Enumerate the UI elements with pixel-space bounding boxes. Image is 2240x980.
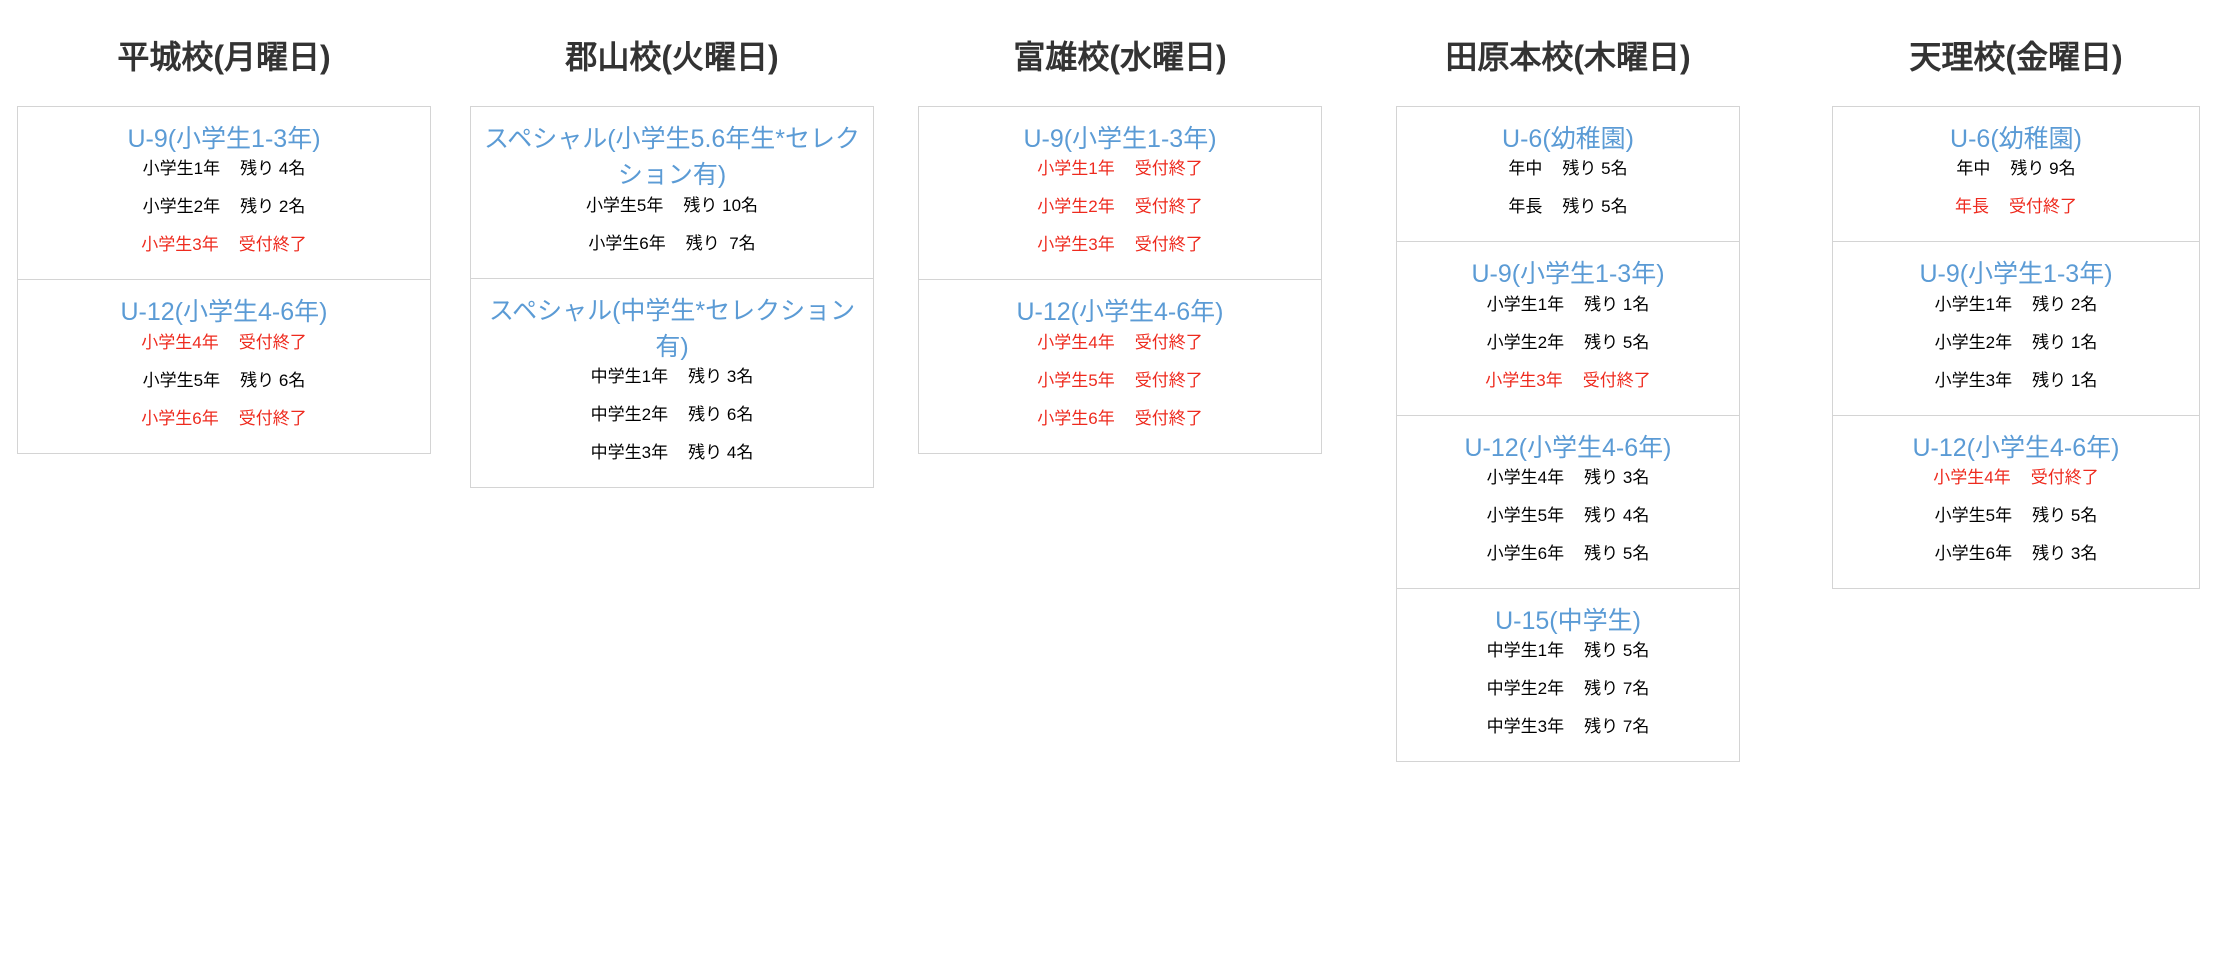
status-badge-closed: 受付終了	[1583, 372, 1651, 389]
capacity-row: 中学生1年残り 5名	[1487, 642, 1650, 659]
class-rows: 年中残り 9名年長受付終了	[1841, 160, 2191, 215]
class-card[interactable]: U-12(小学生4-6年)小学生4年受付終了小学生5年受付終了小学生6年受付終了	[918, 279, 1322, 453]
class-name: U-6(幼稚園)	[1405, 121, 1731, 157]
class-card[interactable]: U-6(幼稚園)年中残り 9名年長受付終了	[1832, 106, 2200, 241]
status-badge-closed: 受付終了	[1135, 334, 1203, 351]
status-badge-remaining: 残り 5名	[1562, 198, 1627, 215]
row-spacer	[1564, 296, 1584, 313]
grade-label: 小学生5年	[1935, 507, 2012, 524]
grade-label: 小学生1年	[1487, 296, 1564, 313]
class-name: U-6(幼稚園)	[1841, 121, 2191, 157]
school-title: 平城校(月曜日)	[17, 0, 431, 106]
status-badge-closed: 受付終了	[239, 410, 307, 427]
grade-label: 小学生6年	[1935, 545, 2012, 562]
grade-label: 中学生3年	[1487, 718, 1564, 735]
grade-label: 小学生5年	[1037, 372, 1114, 389]
row-spacer	[220, 160, 240, 177]
status-badge-closed: 受付終了	[239, 334, 307, 351]
grade-label: 小学生2年	[143, 198, 220, 215]
status-badge-remaining: 残り 2名	[240, 198, 305, 215]
class-name: U-12(小学生4-6年)	[26, 294, 422, 330]
class-name: U-9(小学生1-3年)	[927, 121, 1313, 157]
grade-label: 小学生2年	[1935, 334, 2012, 351]
grade-label: 年長	[1955, 198, 1989, 215]
status-badge-remaining: 残り 7名	[1584, 718, 1649, 735]
capacity-row: 小学生2年受付終了	[1037, 198, 1202, 215]
school-title: 天理校(金曜日)	[1832, 0, 2200, 106]
row-spacer	[1564, 507, 1584, 524]
capacity-row: 小学生6年残り 7名	[588, 235, 755, 252]
status-badge-closed: 受付終了	[1135, 160, 1203, 177]
status-badge-remaining: 残り 1名	[1584, 296, 1649, 313]
capacity-row: 小学生4年受付終了	[1933, 469, 2098, 486]
class-card[interactable]: U-9(小学生1-3年)小学生1年受付終了小学生2年受付終了小学生3年受付終了	[918, 106, 1322, 279]
class-rows: 小学生4年残り 3名小学生5年残り 4名小学生6年残り 5名	[1405, 469, 1731, 562]
grade-label: 小学生1年	[1935, 296, 2012, 313]
class-name: U-12(小学生4-6年)	[927, 294, 1313, 330]
capacity-row: 小学生2年残り 2名	[143, 198, 306, 215]
school-title: 田原本校(木曜日)	[1396, 0, 1740, 106]
row-spacer	[219, 410, 239, 427]
row-spacer	[1564, 469, 1584, 486]
capacity-row: 小学生5年残り 10名	[586, 197, 758, 214]
status-badge-remaining: 残り 10名	[683, 197, 758, 214]
status-badge-closed: 受付終了	[2009, 198, 2077, 215]
status-badge-closed: 受付終了	[1135, 410, 1203, 427]
row-spacer	[219, 236, 239, 253]
status-badge-remaining: 残り 7名	[686, 235, 756, 252]
row-spacer	[1115, 334, 1135, 351]
row-spacer	[2012, 507, 2032, 524]
class-name: U-12(小学生4-6年)	[1405, 430, 1731, 466]
schools-grid: 平城校(月曜日)U-9(小学生1-3年)小学生1年残り 4名小学生2年残り 2名…	[0, 0, 2240, 762]
capacity-row: 小学生3年受付終了	[1485, 372, 1650, 389]
row-spacer	[1542, 160, 1562, 177]
status-badge-remaining: 残り 2名	[2032, 296, 2097, 313]
grade-label: 小学生6年	[1037, 410, 1114, 427]
row-spacer	[1564, 642, 1584, 659]
capacity-row: 小学生5年受付終了	[1037, 372, 1202, 389]
class-rows: 中学生1年残り 5名中学生2年残り 7名中学生3年残り 7名	[1405, 642, 1731, 735]
row-spacer	[1564, 680, 1584, 697]
class-card[interactable]: U-12(小学生4-6年)小学生4年受付終了小学生5年残り 5名小学生6年残り …	[1832, 415, 2200, 589]
row-spacer	[1115, 372, 1135, 389]
row-spacer	[220, 198, 240, 215]
grade-label: 小学生3年	[141, 236, 218, 253]
grade-label: 年長	[1508, 198, 1542, 215]
capacity-row: 小学生5年残り 4名	[1487, 507, 1650, 524]
capacity-row: 中学生1年残り 3名	[591, 368, 754, 385]
row-spacer	[1115, 198, 1135, 215]
class-card[interactable]: スペシャル(中学生*セレクション有)中学生1年残り 3名中学生2年残り 6名中学…	[470, 278, 874, 489]
status-badge-remaining: 残り 5名	[1584, 334, 1649, 351]
capacity-row: 小学生1年残り 1名	[1487, 296, 1650, 313]
capacity-row: 年長残り 5名	[1508, 198, 1627, 215]
row-spacer	[1564, 718, 1584, 735]
grade-label: 小学生4年	[1933, 469, 2010, 486]
class-name: U-12(小学生4-6年)	[1841, 430, 2191, 466]
class-rows: 年中残り 5名年長残り 5名	[1405, 160, 1731, 215]
class-rows: 小学生1年受付終了小学生2年受付終了小学生3年受付終了	[927, 160, 1313, 253]
row-spacer	[668, 406, 688, 423]
status-badge-remaining: 残り 6名	[688, 406, 753, 423]
grade-label: 小学生4年	[141, 334, 218, 351]
school-column: 富雄校(水曜日)U-9(小学生1-3年)小学生1年受付終了小学生2年受付終了小学…	[896, 0, 1344, 454]
status-badge-remaining: 残り 1名	[2032, 334, 2097, 351]
status-badge-remaining: 残り 7名	[1584, 680, 1649, 697]
grade-label: 小学生2年	[1487, 334, 1564, 351]
row-spacer	[663, 197, 683, 214]
status-badge-closed: 受付終了	[1135, 236, 1203, 253]
status-badge-remaining: 残り 6名	[240, 372, 305, 389]
class-card[interactable]: U-9(小学生1-3年)小学生1年残り 4名小学生2年残り 2名小学生3年受付終…	[17, 106, 431, 279]
grade-label: 年中	[1956, 160, 1990, 177]
grade-label: 小学生3年	[1037, 236, 1114, 253]
status-badge-remaining: 残り 4名	[1584, 507, 1649, 524]
grade-label: 中学生3年	[591, 444, 668, 461]
grade-label: 小学生3年	[1485, 372, 1562, 389]
grade-label: 中学生2年	[1487, 680, 1564, 697]
row-spacer	[1989, 198, 2009, 215]
capacity-row: 小学生6年受付終了	[1037, 410, 1202, 427]
capacity-row: 小学生1年受付終了	[1037, 160, 1202, 177]
row-spacer	[219, 334, 239, 351]
row-spacer	[1564, 545, 1584, 562]
capacity-row: 小学生2年残り 5名	[1487, 334, 1650, 351]
grade-label: 小学生5年	[586, 197, 663, 214]
status-badge-remaining: 残り 4名	[688, 444, 753, 461]
class-card[interactable]: U-9(小学生1-3年)小学生1年残り 1名小学生2年残り 5名小学生3年受付終…	[1396, 241, 1740, 414]
grade-label: 小学生6年	[588, 235, 665, 252]
class-rows: 小学生1年残り 2名小学生2年残り 1名小学生3年残り 1名	[1841, 296, 2191, 389]
row-spacer	[220, 372, 240, 389]
status-badge-closed: 受付終了	[1135, 372, 1203, 389]
row-spacer	[1563, 372, 1583, 389]
class-card[interactable]: U-15(中学生)中学生1年残り 5名中学生2年残り 7名中学生3年残り 7名	[1396, 588, 1740, 762]
grade-label: 中学生1年	[1487, 642, 1564, 659]
capacity-row: 中学生3年残り 7名	[1487, 718, 1650, 735]
status-badge-remaining: 残り 3名	[2032, 545, 2097, 562]
grade-label: 小学生5年	[143, 372, 220, 389]
capacity-row: 小学生4年受付終了	[141, 334, 306, 351]
capacity-row: 中学生2年残り 6名	[591, 406, 754, 423]
class-rows: 小学生5年残り 10名小学生6年残り 7名	[479, 197, 865, 252]
school-column: 天理校(金曜日)U-6(幼稚園)年中残り 9名年長受付終了U-9(小学生1-3年…	[1792, 0, 2240, 589]
row-spacer	[668, 368, 688, 385]
row-spacer	[1990, 160, 2010, 177]
school-column: 平城校(月曜日)U-9(小学生1-3年)小学生1年残り 4名小学生2年残り 2名…	[0, 0, 448, 454]
status-badge-closed: 受付終了	[239, 236, 307, 253]
class-rows: 小学生1年残り 4名小学生2年残り 2名小学生3年受付終了	[26, 160, 422, 253]
grade-label: 小学生6年	[1487, 545, 1564, 562]
class-rows: 中学生1年残り 3名中学生2年残り 6名中学生3年残り 4名	[479, 368, 865, 461]
row-spacer	[1115, 236, 1135, 253]
capacity-row: 中学生2年残り 7名	[1487, 680, 1650, 697]
class-name: スペシャル(小学生5.6年生*セレクション有)	[479, 121, 865, 194]
school-title: 富雄校(水曜日)	[918, 0, 1322, 106]
class-name: U-9(小学生1-3年)	[1841, 256, 2191, 292]
capacity-row: 小学生3年残り 1名	[1935, 372, 2098, 389]
capacity-row: 小学生5年残り 5名	[1935, 507, 2098, 524]
capacity-row: 小学生5年残り 6名	[143, 372, 306, 389]
status-badge-closed: 受付終了	[2031, 469, 2099, 486]
capacity-row: 小学生6年残り 3名	[1935, 545, 2098, 562]
capacity-row: 小学生2年残り 1名	[1935, 334, 2098, 351]
class-card[interactable]: U-12(小学生4-6年)小学生4年受付終了小学生5年残り 6名小学生6年受付終…	[17, 279, 431, 453]
status-badge-remaining: 残り 5名	[1584, 642, 1649, 659]
grade-label: 小学生1年	[1037, 160, 1114, 177]
grade-label: 小学生3年	[1935, 372, 2012, 389]
row-spacer	[1564, 334, 1584, 351]
status-badge-remaining: 残り 4名	[240, 160, 305, 177]
class-card[interactable]: U-12(小学生4-6年)小学生4年残り 3名小学生5年残り 4名小学生6年残り…	[1396, 415, 1740, 588]
row-spacer	[2012, 296, 2032, 313]
class-card[interactable]: U-9(小学生1-3年)小学生1年残り 2名小学生2年残り 1名小学生3年残り …	[1832, 241, 2200, 414]
row-spacer	[1115, 160, 1135, 177]
capacity-row: 小学生6年残り 5名	[1487, 545, 1650, 562]
capacity-row: 小学生1年残り 2名	[1935, 296, 2098, 313]
grade-label: 中学生1年	[591, 368, 668, 385]
status-badge-closed: 受付終了	[1135, 198, 1203, 215]
class-card[interactable]: スペシャル(小学生5.6年生*セレクション有)小学生5年残り 10名小学生6年残…	[470, 106, 874, 278]
grade-label: 中学生2年	[591, 406, 668, 423]
capacity-row: 小学生4年受付終了	[1037, 334, 1202, 351]
grade-label: 小学生6年	[141, 410, 218, 427]
status-badge-remaining: 残り 5名	[1584, 545, 1649, 562]
row-spacer	[1542, 198, 1562, 215]
capacity-row: 年中残り 5名	[1508, 160, 1627, 177]
status-badge-remaining: 残り 5名	[2032, 507, 2097, 524]
class-card[interactable]: U-6(幼稚園)年中残り 5名年長残り 5名	[1396, 106, 1740, 241]
row-spacer	[2012, 372, 2032, 389]
status-badge-remaining: 残り 5名	[1562, 160, 1627, 177]
grade-label: 小学生2年	[1037, 198, 1114, 215]
capacity-row: 小学生3年受付終了	[141, 236, 306, 253]
row-spacer	[666, 235, 686, 252]
row-spacer	[1115, 410, 1135, 427]
grade-label: 小学生1年	[143, 160, 220, 177]
status-badge-remaining: 残り 9名	[2010, 160, 2075, 177]
row-spacer	[2011, 469, 2031, 486]
school-title: 郡山校(火曜日)	[470, 0, 874, 106]
grade-label: 年中	[1508, 160, 1542, 177]
class-rows: 小学生4年受付終了小学生5年残り 6名小学生6年受付終了	[26, 334, 422, 427]
class-name: U-15(中学生)	[1405, 603, 1731, 639]
capacity-row: 年長受付終了	[1955, 198, 2077, 215]
capacity-row: 中学生3年残り 4名	[591, 444, 754, 461]
class-name: U-9(小学生1-3年)	[1405, 256, 1731, 292]
class-rows: 小学生4年受付終了小学生5年受付終了小学生6年受付終了	[927, 334, 1313, 427]
status-badge-remaining: 残り 3名	[688, 368, 753, 385]
school-column: 田原本校(木曜日)U-6(幼稚園)年中残り 5名年長残り 5名U-9(小学生1-…	[1344, 0, 1792, 762]
capacity-row: 小学生4年残り 3名	[1487, 469, 1650, 486]
capacity-row: 年中残り 9名	[1956, 160, 2075, 177]
grade-label: 小学生4年	[1037, 334, 1114, 351]
row-spacer	[668, 444, 688, 461]
row-spacer	[2012, 334, 2032, 351]
class-name: スペシャル(中学生*セレクション有)	[479, 293, 865, 366]
status-badge-remaining: 残り 1名	[2032, 372, 2097, 389]
row-spacer	[2012, 545, 2032, 562]
capacity-row: 小学生3年受付終了	[1037, 236, 1202, 253]
status-badge-remaining: 残り 3名	[1584, 469, 1649, 486]
grade-label: 小学生5年	[1487, 507, 1564, 524]
grade-label: 小学生4年	[1487, 469, 1564, 486]
capacity-row: 小学生1年残り 4名	[143, 160, 306, 177]
class-rows: 小学生1年残り 1名小学生2年残り 5名小学生3年受付終了	[1405, 296, 1731, 389]
school-column: 郡山校(火曜日)スペシャル(小学生5.6年生*セレクション有)小学生5年残り 1…	[448, 0, 896, 488]
class-name: U-9(小学生1-3年)	[26, 121, 422, 157]
class-rows: 小学生4年受付終了小学生5年残り 5名小学生6年残り 3名	[1841, 469, 2191, 562]
capacity-row: 小学生6年受付終了	[141, 410, 306, 427]
